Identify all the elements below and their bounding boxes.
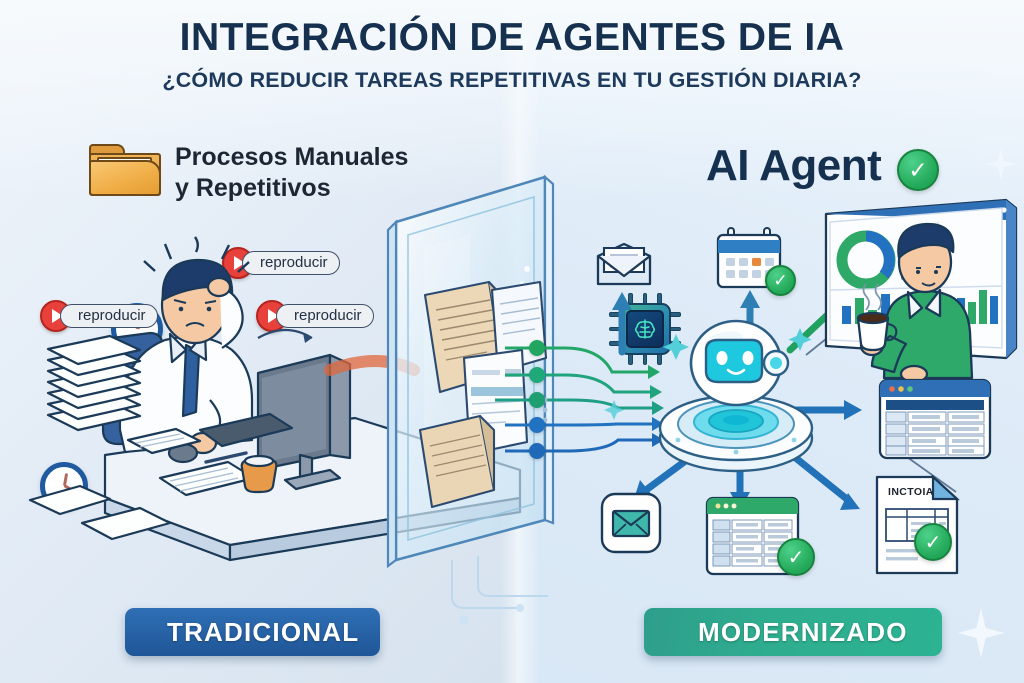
pipeline-node: [529, 392, 545, 408]
banner-tradicional-label: TRADICIONAL: [167, 617, 359, 648]
page-subtitle: ¿CÓMO REDUCIR TAREAS REPETITIVAS EN TU G…: [0, 68, 1024, 93]
page-title: INTEGRACIÓN DE AGENTES DE IA: [0, 18, 1024, 59]
pipeline-node: [529, 367, 545, 383]
ai-chip-brain-icon: [609, 293, 681, 365]
play-badge[interactable]: reproducir: [222, 247, 340, 279]
play-badge-label: reproducir: [60, 304, 158, 328]
data-table-window: [878, 378, 992, 460]
invoice-document-label: INCTOIA: [888, 486, 934, 498]
banner-modernizado[interactable]: MODERNIZADO: [644, 608, 942, 656]
pipeline-node: [529, 340, 545, 356]
mail-app-icon: [600, 492, 662, 554]
banner-modernizado-label: MODERNIZADO: [698, 617, 908, 648]
email-icon: [594, 242, 654, 288]
ai-agent-heading: AI Agent: [706, 141, 881, 191]
check-circle-icon: ✓: [897, 149, 939, 191]
folder-icon: [88, 140, 162, 200]
check-circle-icon: ✓: [777, 538, 815, 576]
analytics-dashboard: [820, 198, 1024, 383]
left-panel-label-line2: y Repetitivos: [175, 174, 331, 203]
infographic-canvas: INTEGRACIÓN DE AGENTES DE IA ¿CÓMO REDUC…: [0, 0, 1024, 683]
banner-tradicional[interactable]: TRADICIONAL: [125, 608, 380, 656]
pipeline-node: [529, 417, 545, 433]
left-panel-label-line1: Procesos Manuales: [175, 143, 408, 172]
play-badge[interactable]: reproducir: [256, 300, 374, 332]
pipeline-node: [529, 443, 545, 459]
header: INTEGRACIÓN DE AGENTES DE IA ¿CÓMO REDUC…: [0, 18, 1024, 93]
play-badge-label: reproducir: [276, 304, 374, 328]
play-badge[interactable]: reproducir: [40, 300, 158, 332]
check-circle-icon: ✓: [765, 265, 796, 296]
clock-icon: [40, 462, 88, 510]
play-badge-label: reproducir: [242, 251, 340, 275]
check-circle-icon: ✓: [914, 523, 952, 561]
